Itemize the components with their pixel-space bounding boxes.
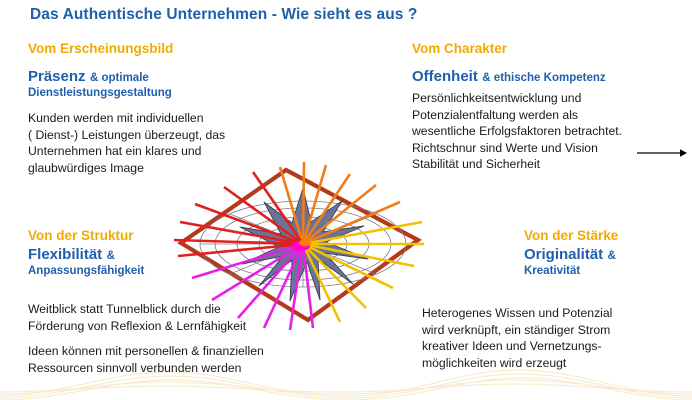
body-line: glaubwürdiges Image bbox=[28, 160, 225, 177]
quadrant-bottom-left: Von der Struktur Flexibilität & Anpassun… bbox=[28, 228, 264, 376]
heading-flexibilitaet-rest: & bbox=[107, 250, 115, 262]
quadrant-top-left: Vom Erscheinungsbild Präsenz & optimale … bbox=[28, 41, 225, 176]
quadrant-bottom-right-body: Heterogenes Wissen und Potenzial wird ve… bbox=[422, 305, 612, 371]
body-line: Förderung von Reflexion & Lernfähigkeit bbox=[28, 318, 264, 335]
page-title: Das Authentische Unternehmen - Wie sieht… bbox=[30, 6, 417, 24]
body-line: wesentliche Erfolgsfaktoren betrachtet. bbox=[412, 123, 622, 140]
heading-offenheit-rest: & ethische Kompetenz bbox=[482, 72, 605, 84]
quadrant-bottom-right: Von der Stärke Originalität & Kreativitä… bbox=[524, 228, 618, 277]
body-line: Potenzialentfaltung werden als bbox=[412, 107, 622, 124]
body-line: wird verknüpft, ein ständiger Strom bbox=[422, 322, 612, 339]
slide-canvas: Das Authentische Unternehmen - Wie sieht… bbox=[0, 0, 692, 400]
body-line: kreativer Ideen und Vernetzungs- bbox=[422, 338, 612, 355]
body-line: ( Dienst-) Leistungen überzeugt, das bbox=[28, 127, 225, 144]
body-line: Ressourcen sinnvoll verbunden werden bbox=[28, 360, 264, 377]
body-line: Weitblick statt Tunnelblick durch die bbox=[28, 301, 264, 318]
body-line: Unternehmen hat ein klares und bbox=[28, 143, 225, 160]
body-line: Kunden werden mit individuellen bbox=[28, 110, 225, 127]
kicker-vom-erscheinungsbild: Vom Erscheinungsbild bbox=[28, 41, 225, 56]
heading-dienstleistungsgestaltung: Dienstleistungsgestaltung bbox=[28, 87, 225, 99]
heading-originalitaet: Originalität bbox=[524, 246, 603, 263]
body-line: Richtschnur sind Werte und Vision bbox=[412, 140, 622, 157]
kicker-von-der-staerke: Von der Stärke bbox=[524, 228, 618, 243]
heading-offenheit: Offenheit bbox=[412, 68, 478, 85]
heading-kreativitaet: Kreativität bbox=[524, 265, 618, 277]
heading-anpassungsfaehigkeit: Anpassungsfähigkeit bbox=[28, 265, 264, 277]
kicker-von-der-struktur: Von der Struktur bbox=[28, 228, 264, 243]
body-line: möglichkeiten wird erzeugt bbox=[422, 355, 612, 372]
body-line: Stabilität und Sicherheit bbox=[412, 156, 622, 173]
arrow-right-icon bbox=[636, 147, 688, 159]
body-line: Persönlichkeitsentwicklung und bbox=[412, 90, 622, 107]
body-line: Ideen können mit personellen & finanziel… bbox=[28, 343, 264, 360]
heading-praesenz: Präsenz bbox=[28, 68, 86, 85]
body-line: Heterogenes Wissen und Potenzial bbox=[422, 305, 612, 322]
heading-praesenz-rest: & optimale bbox=[90, 72, 149, 84]
heading-flexibilitaet: Flexibilität bbox=[28, 246, 102, 263]
kicker-vom-charakter: Vom Charakter bbox=[412, 41, 622, 56]
quadrant-top-right: Vom Charakter Offenheit & ethische Kompe… bbox=[412, 41, 622, 173]
heading-originalitaet-rest: & bbox=[608, 250, 616, 262]
